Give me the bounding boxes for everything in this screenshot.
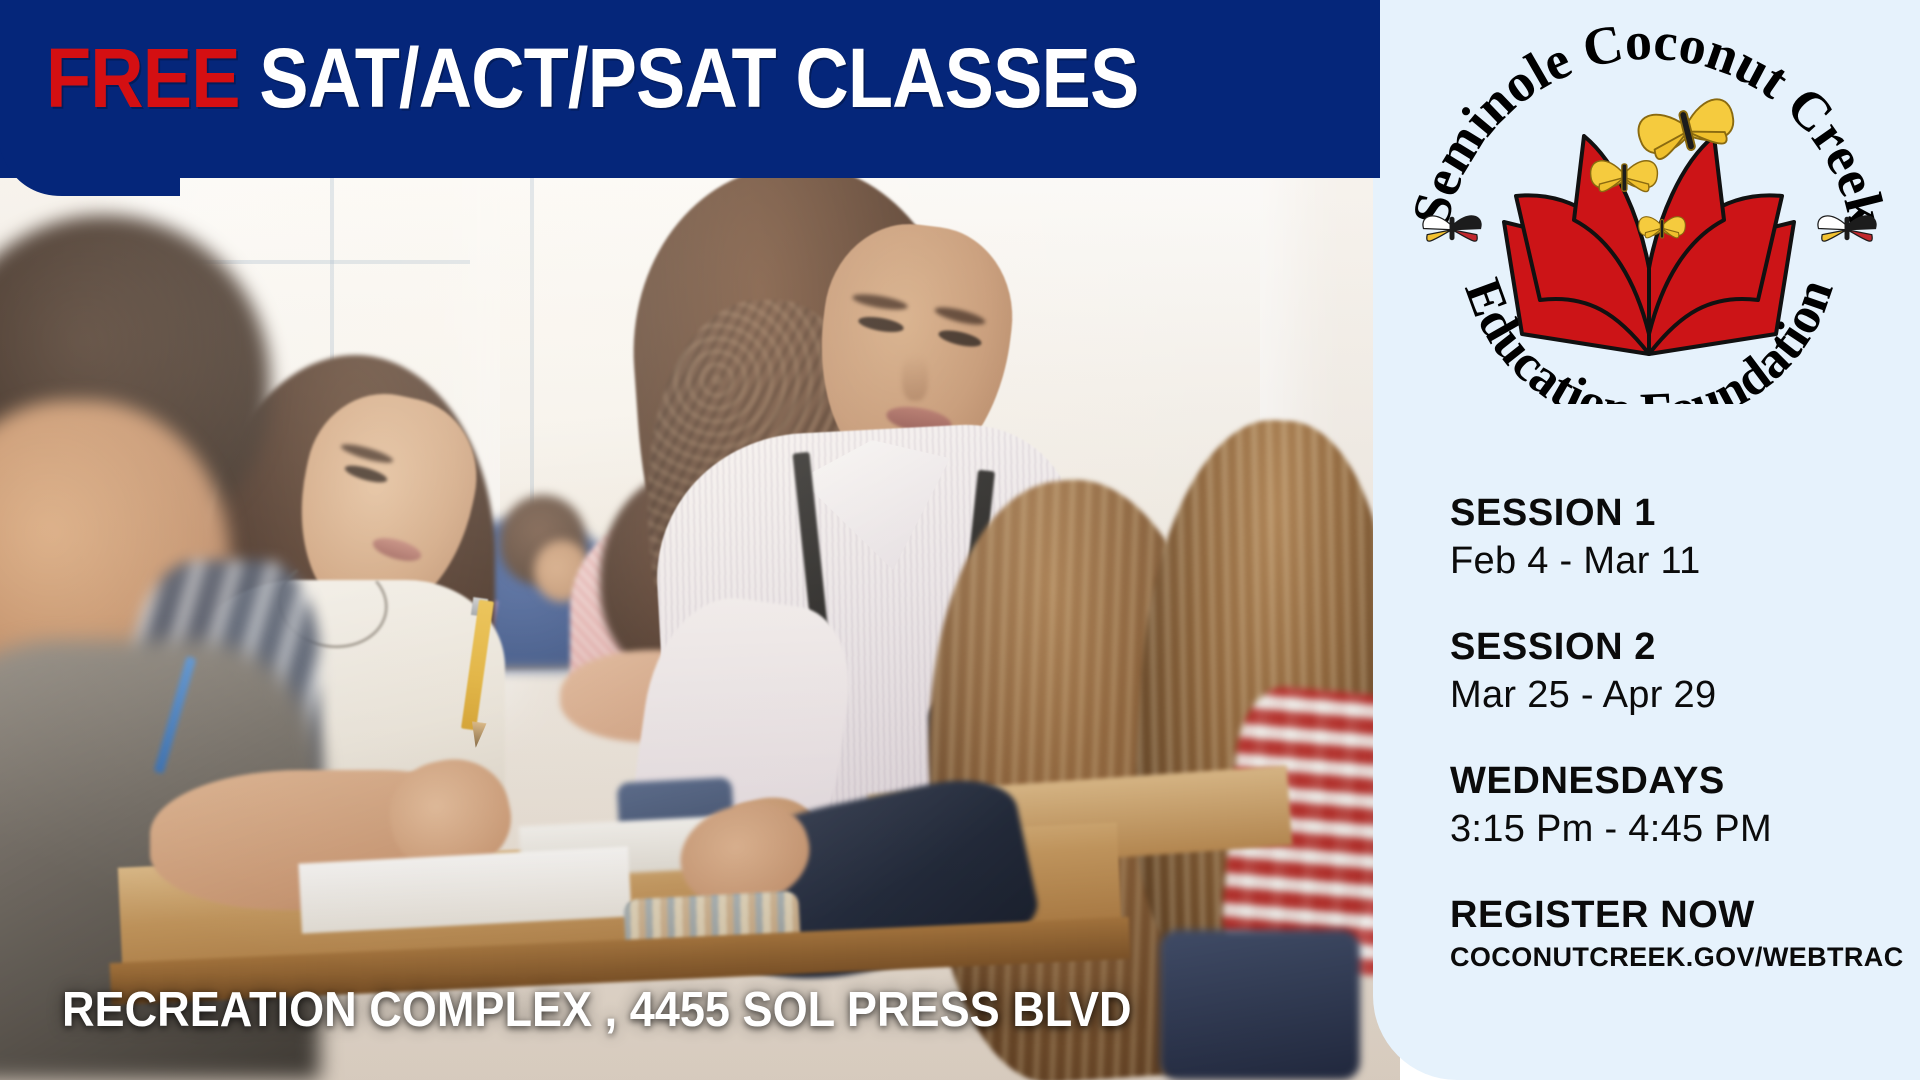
register-heading: REGISTER NOW: [1450, 892, 1920, 938]
detail-block-session-1: SESSION 1 Feb 4 - Mar 11: [1450, 490, 1920, 586]
detail-block-register[interactable]: REGISTER NOW COCONUTCREEK.GOV/WEBTRAC: [1450, 892, 1920, 976]
header-banner-curve: [0, 148, 180, 268]
register-url[interactable]: COCONUTCREEK.GOV/WEBTRAC: [1450, 938, 1920, 976]
class-time: 3:15 Pm - 4:45 PM: [1450, 804, 1920, 854]
weekday-heading: WEDNESDAYS: [1450, 758, 1920, 804]
session-details: SESSION 1 Feb 4 - Mar 11 SESSION 2 Mar 2…: [1450, 490, 1920, 976]
flyer-root: FREE SAT/ACT/PSAT CLASSES RECREATION COM…: [0, 0, 1920, 1080]
detail-block-weekday: WEDNESDAYS 3:15 Pm - 4:45 PM: [1450, 758, 1920, 854]
title-free-word: FREE: [46, 31, 240, 125]
venue-address: RECREATION COMPLEX , 4455 SOL PRESS BLVD: [62, 982, 1132, 1038]
page-title: FREE SAT/ACT/PSAT CLASSES: [46, 22, 1190, 134]
session-2-heading: SESSION 2: [1450, 624, 1920, 670]
title-rest: SAT/ACT/PSAT CLASSES: [240, 31, 1139, 125]
session-1-heading: SESSION 1: [1450, 490, 1920, 536]
session-1-dates: Feb 4 - Mar 11: [1450, 536, 1920, 586]
photo-chair: [1160, 930, 1360, 1080]
session-2-dates: Mar 25 - Apr 29: [1450, 670, 1920, 720]
foundation-logo: Seminole Coconut Creek Education Foundat…: [1404, 14, 1894, 404]
photo-teacher: [902, 355, 928, 401]
detail-block-session-2: SESSION 2 Mar 25 - Apr 29: [1450, 624, 1920, 720]
